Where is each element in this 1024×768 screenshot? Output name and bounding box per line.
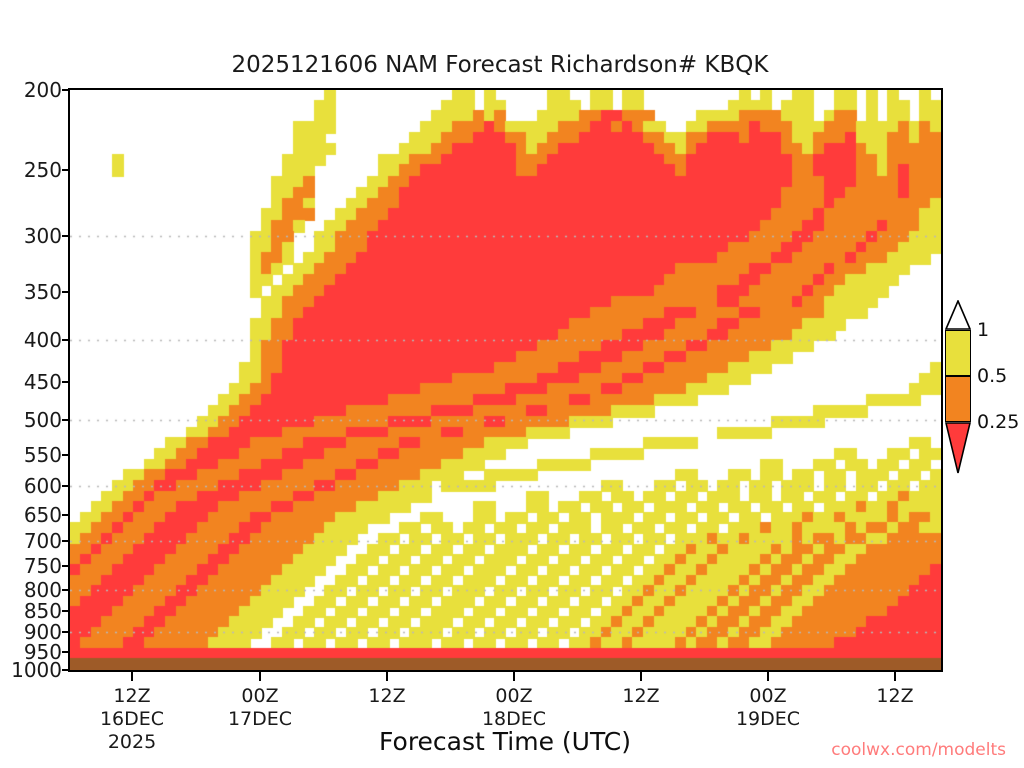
x-axis: 12Z16DEC202500Z17DEC12Z00Z18DEC12Z00Z19D… <box>0 0 1024 768</box>
x-axis-hour-label: 00Z <box>723 685 813 707</box>
x-axis-tick-mark <box>767 672 769 681</box>
colorbar-label: 1 <box>977 321 989 340</box>
colorbar-bottom-arrow <box>945 422 971 474</box>
colorbar-label: 0.5 <box>977 367 1007 386</box>
x-axis-tick-mark <box>894 672 896 681</box>
colorbar-swatch-yellow <box>945 330 971 376</box>
x-axis-tick-mark <box>259 672 261 681</box>
colorbar-top-arrow <box>945 300 971 330</box>
colorbar-legend: 10.50.25 <box>941 300 1021 480</box>
footer-credit: coolwx.com/modelts <box>831 740 1006 760</box>
x-axis-tick-mark <box>386 672 388 681</box>
x-axis-tick-mark <box>513 672 515 681</box>
x-axis-tick-mark <box>131 672 133 681</box>
x-axis-tick-mark <box>640 672 642 681</box>
colorbar-label: 0.25 <box>977 413 1019 432</box>
x-axis-hour-label: 00Z <box>215 685 305 707</box>
x-axis-hour-label: 12Z <box>850 685 940 707</box>
x-axis-hour-label: 00Z <box>469 685 559 707</box>
colorbar-swatch-orange <box>945 376 971 422</box>
x-axis-hour-label: 12Z <box>87 685 177 707</box>
x-axis-hour-label: 12Z <box>342 685 432 707</box>
x-axis-hour-label: 12Z <box>596 685 686 707</box>
chart-page: 2025121606 NAM Forecast Richardson# KBQK… <box>0 0 1024 768</box>
